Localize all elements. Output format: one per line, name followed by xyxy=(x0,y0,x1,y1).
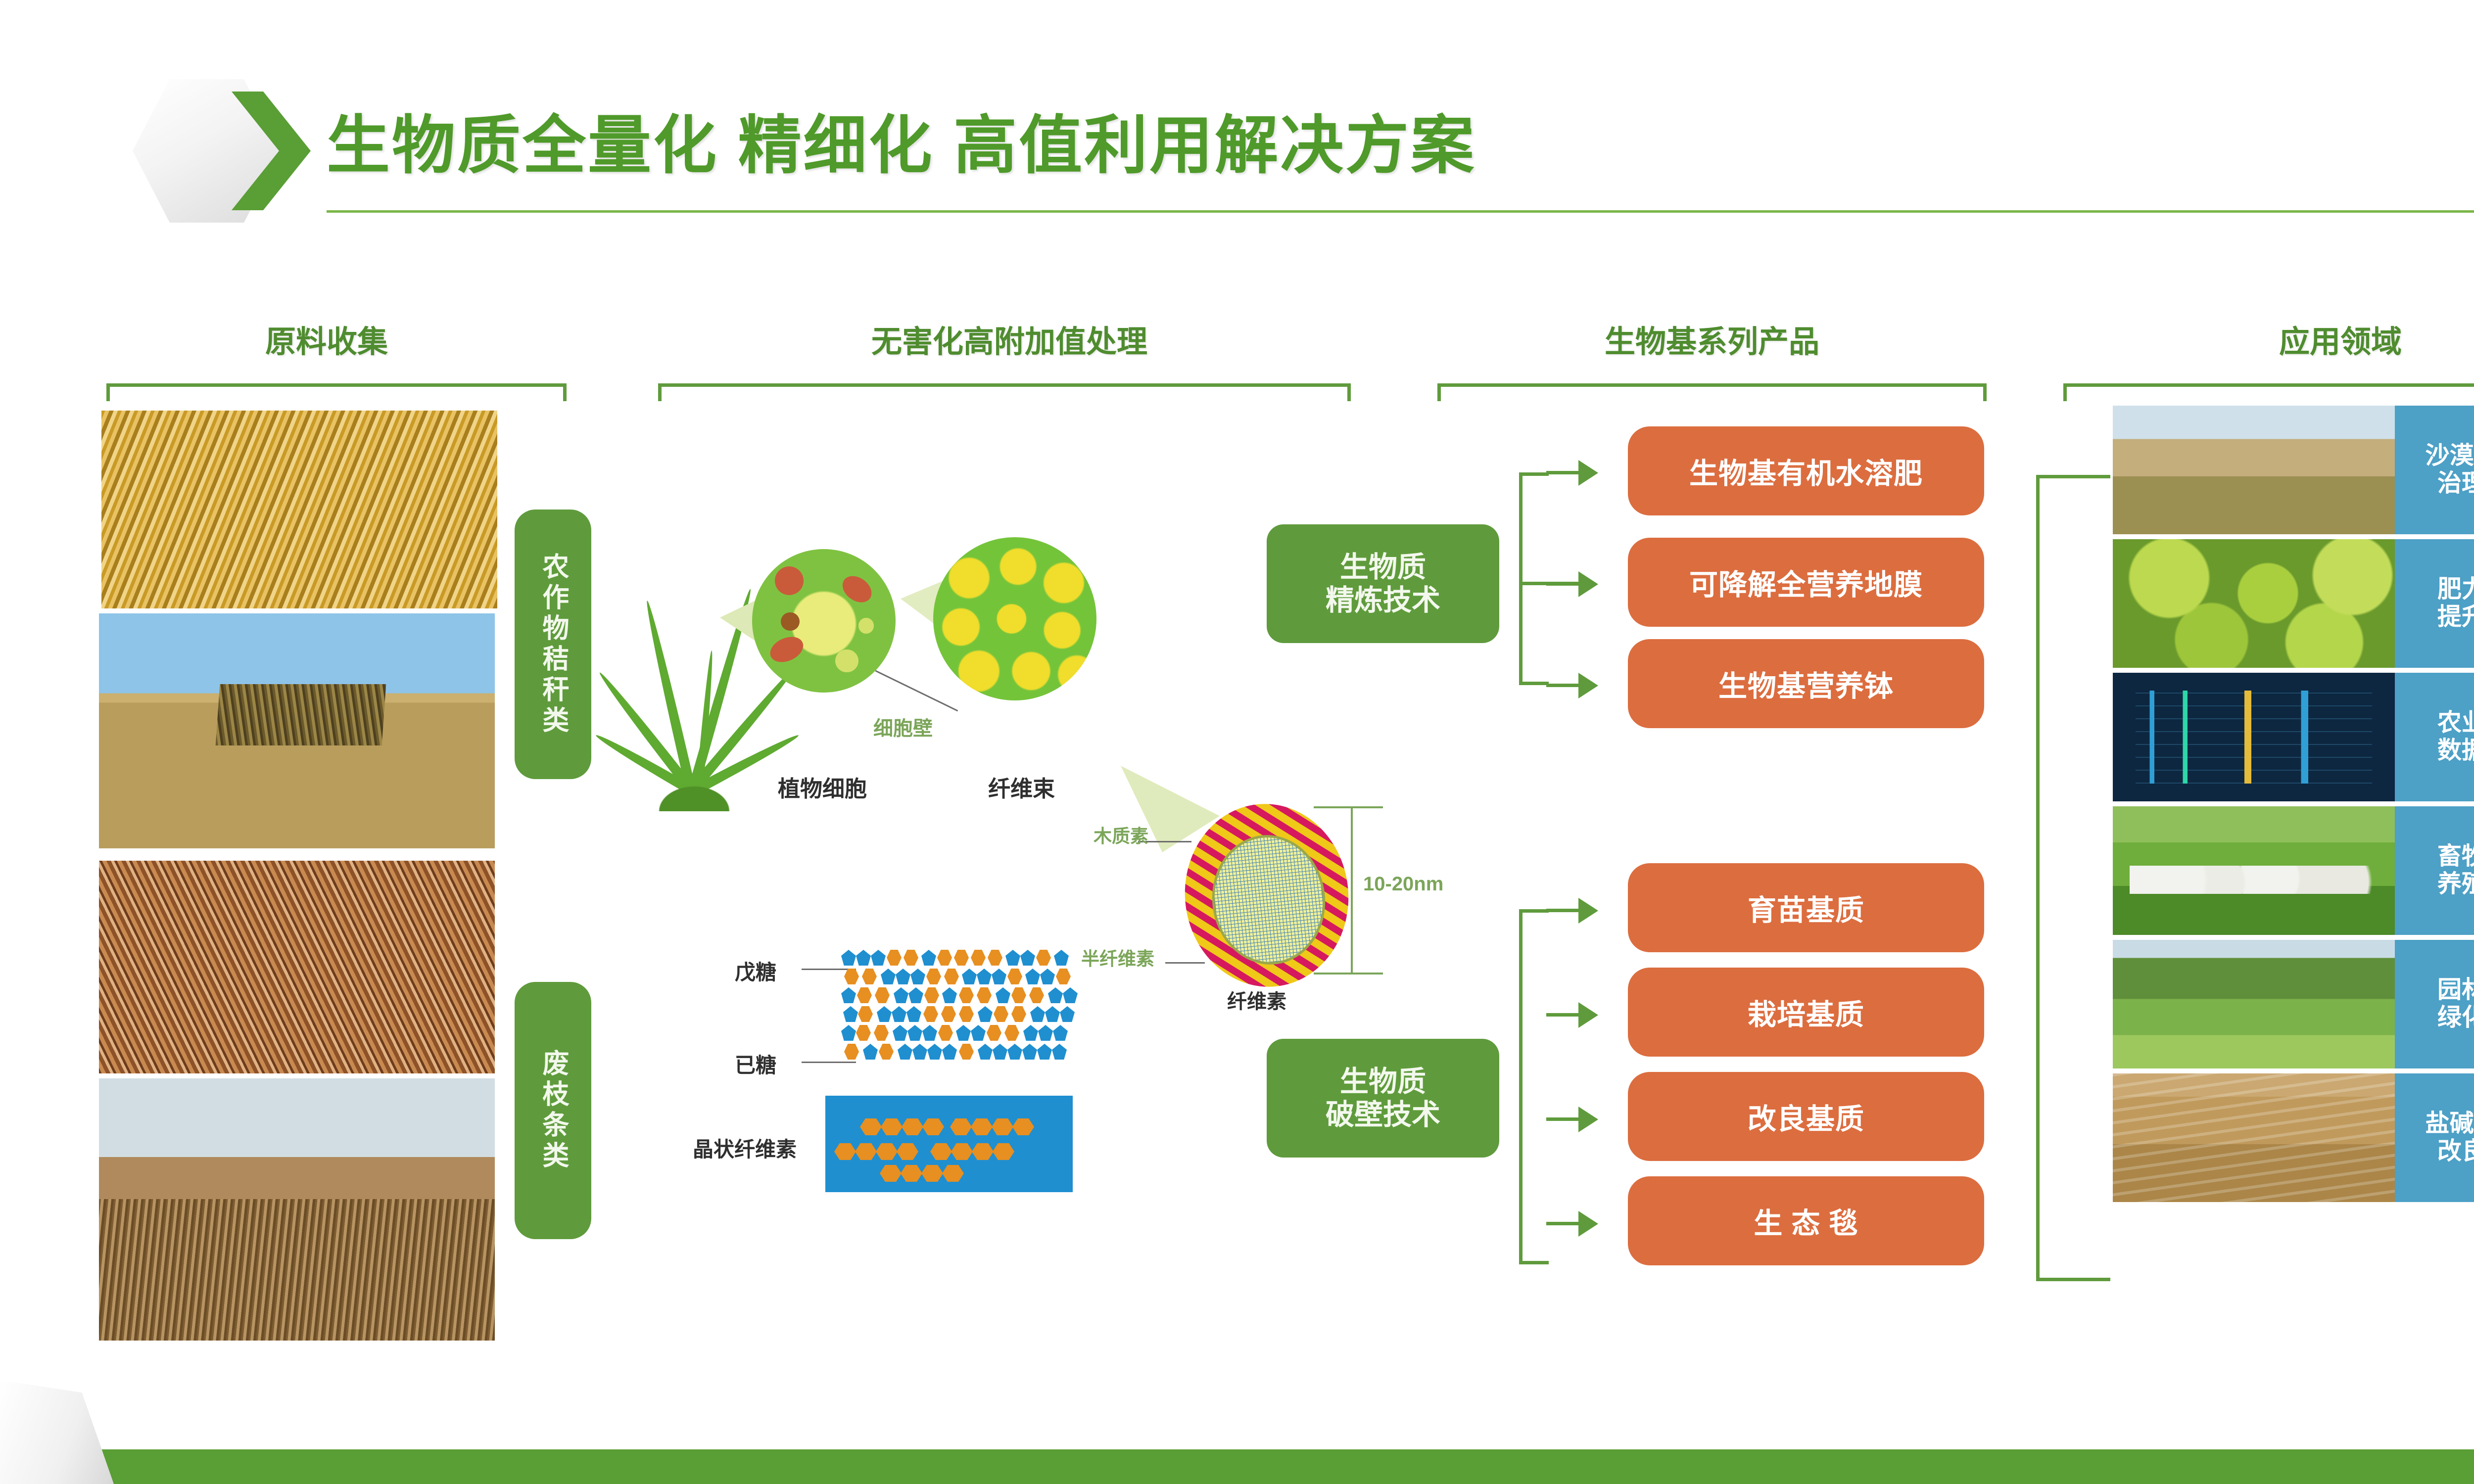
application-label-livestock: 畜牧 养殖 xyxy=(2395,806,2474,935)
arrow-to-product-6 xyxy=(1578,1107,1598,1132)
bracket-applications xyxy=(2063,383,2474,401)
photo-corn-straw-pile xyxy=(101,411,497,608)
label-fiber-scale: 10-20nm xyxy=(1363,873,1443,895)
connector-stub-6 xyxy=(1546,1117,1581,1121)
footer-bar xyxy=(0,1449,2474,1484)
app-label-livestock-line1: 畜牧 xyxy=(2437,843,2474,871)
arrow-to-product-7 xyxy=(1578,1211,1598,1237)
label-lignin: 木质素 xyxy=(1094,821,1148,848)
photo-orchard-branch-collection xyxy=(99,1078,495,1341)
tech-box-refining-line2: 精炼技术 xyxy=(1326,584,1440,617)
plant-cell-diagram-icon xyxy=(752,549,896,693)
app-label-fertility-line2: 提升 xyxy=(2437,603,2474,631)
application-row-agri-data[interactable]: 农业 数据 xyxy=(2113,673,2474,801)
arrow-to-product-2 xyxy=(1578,571,1598,597)
connector-stub-3 xyxy=(1546,684,1581,687)
material-category-crop-straw: 农作物秸秆类 xyxy=(515,510,591,779)
application-label-landscape: 园林 绿化 xyxy=(2395,940,2474,1068)
app-label-desert-line2: 治理 xyxy=(2437,470,2474,498)
page-header: 生物质全量化 精细化 高值利用解决方案 xyxy=(0,0,2474,232)
photo-saline-alkali-land xyxy=(2113,1073,2395,1202)
bracket-raw-collection xyxy=(106,383,567,401)
app-label-data-line2: 数据 xyxy=(2437,737,2474,765)
label-fiber-bundle: 纤维束 xyxy=(988,771,1055,803)
material-category-waste-branches: 废枝条类 xyxy=(515,982,591,1239)
dimension-tick-bottom xyxy=(1314,973,1383,974)
photo-baled-straw-field xyxy=(99,613,495,848)
leader-line-hemicellulose xyxy=(1165,962,1205,964)
dimension-line-vertical xyxy=(1351,806,1353,974)
application-row-saline-alkali[interactable]: 盐碱地 改良 xyxy=(2113,1073,2474,1202)
product-box-seedling-substrate[interactable]: 育苗基质 xyxy=(1628,863,1984,952)
product-box-organic-water-soluble-fertilizer[interactable]: 生物基有机水溶肥 xyxy=(1628,426,1984,515)
tech-box-biomass-wall-breaking[interactable]: 生物质 破壁技术 xyxy=(1267,1039,1499,1158)
connector-stub-2 xyxy=(1546,582,1581,586)
label-plant-cell: 植物细胞 xyxy=(778,771,867,803)
product-box-biobased-nutrition-pot[interactable]: 生物基营养钵 xyxy=(1628,639,1984,728)
connector-stub-7 xyxy=(1546,1222,1581,1225)
label-pentose: 戊糖 xyxy=(735,956,776,986)
product-box-degradable-nutrient-mulch-film[interactable]: 可降解全营养地膜 xyxy=(1628,538,1984,627)
app-label-landscape-line2: 绿化 xyxy=(2437,1004,2474,1032)
application-label-fertility: 肥力 提升 xyxy=(2395,539,2474,668)
application-row-desert-control[interactable]: 沙漠化 治理 xyxy=(2113,406,2474,534)
application-row-landscape-greening[interactable]: 园林 绿化 xyxy=(2113,940,2474,1068)
photo-desert-control xyxy=(2113,406,2395,534)
tech-box-wallbreaking-line2: 破壁技术 xyxy=(1326,1098,1440,1131)
connector-refining-fork xyxy=(1519,472,1549,685)
tech-box-refining-line1: 生物质 xyxy=(1340,551,1426,584)
arrow-to-product-1 xyxy=(1578,460,1598,486)
fiber-bundle-diagram-icon xyxy=(933,537,1096,700)
label-cell-wall: 细胞壁 xyxy=(873,712,933,741)
section-title-products: 生物基系列产品 xyxy=(1435,317,1989,361)
material-category-crop-straw-label: 农作物秸秆类 xyxy=(539,553,567,737)
label-cellulose: 纤维素 xyxy=(1227,985,1286,1014)
arrow-to-product-5 xyxy=(1578,1002,1598,1028)
app-label-landscape-line1: 园林 xyxy=(2437,976,2474,1004)
section-title-raw-collection: 原料收集 xyxy=(139,317,515,361)
section-title-applications: 应用领域 xyxy=(2142,317,2474,361)
product-box-improvement-substrate[interactable]: 改良基质 xyxy=(1628,1072,1984,1161)
dimension-tick-top xyxy=(1314,806,1383,808)
label-crystalline-cellulose: 晶状纤维素 xyxy=(693,1133,797,1163)
footer-wedge-decoration xyxy=(0,1380,114,1484)
app-label-desert-line1: 沙漠化 xyxy=(2425,442,2474,470)
photo-grassland-sheep xyxy=(2113,806,2395,935)
product-box-ecological-blanket[interactable]: 生 态 毯 xyxy=(1628,1176,1984,1265)
application-label-desert-control: 沙漠化 治理 xyxy=(2395,406,2474,534)
application-row-livestock[interactable]: 畜牧 养殖 xyxy=(2113,806,2474,935)
bracket-products xyxy=(1437,383,1987,401)
photo-cabbage-field xyxy=(2113,539,2395,668)
leader-line-cell-wall xyxy=(875,670,958,712)
arrow-to-product-3 xyxy=(1578,673,1598,698)
application-row-fertility-improvement[interactable]: 肥力 提升 xyxy=(2113,539,2474,668)
section-title-processing: 无害化高附加值处理 xyxy=(638,317,1380,361)
app-label-saline-line1: 盐碱地 xyxy=(2425,1110,2474,1138)
crystalline-cellulose-diagram xyxy=(825,1096,1073,1192)
tech-box-wallbreaking-line1: 生物质 xyxy=(1340,1065,1426,1098)
app-label-saline-line2: 改良 xyxy=(2437,1138,2474,1165)
title-underline-divider xyxy=(327,210,2474,213)
photo-landscape-greening xyxy=(2113,940,2395,1068)
connector-stub-1 xyxy=(1546,471,1581,474)
connector-stub-5 xyxy=(1546,1013,1581,1017)
arrow-to-product-4 xyxy=(1578,898,1598,924)
product-box-cultivation-substrate[interactable]: 栽培基质 xyxy=(1628,968,1984,1057)
connector-wallbreaking-fork xyxy=(1519,909,1549,1264)
app-label-livestock-line2: 养殖 xyxy=(2437,871,2474,898)
bracket-applications-inflow xyxy=(2036,475,2110,1281)
photo-pruned-branches xyxy=(99,861,495,1073)
application-label-agri-data: 农业 数据 xyxy=(2395,673,2474,801)
page-title: 生物质全量化 精细化 高值利用解决方案 xyxy=(327,94,1476,185)
photo-agri-data-dashboard xyxy=(2113,673,2395,801)
plant-illustration-icon xyxy=(622,544,761,811)
sugar-chain-diagram xyxy=(841,950,1098,1078)
app-label-data-line1: 农业 xyxy=(2437,709,2474,737)
tech-box-biomass-refining[interactable]: 生物质 精炼技术 xyxy=(1267,524,1499,643)
bracket-processing xyxy=(658,383,1351,401)
material-category-waste-branches-label: 废枝条类 xyxy=(539,1049,567,1172)
application-label-saline-alkali: 盐碱地 改良 xyxy=(2395,1073,2474,1202)
label-hexose: 已糖 xyxy=(735,1049,776,1079)
app-label-fertility-line1: 肥力 xyxy=(2437,576,2474,603)
connector-stub-4 xyxy=(1546,909,1581,912)
